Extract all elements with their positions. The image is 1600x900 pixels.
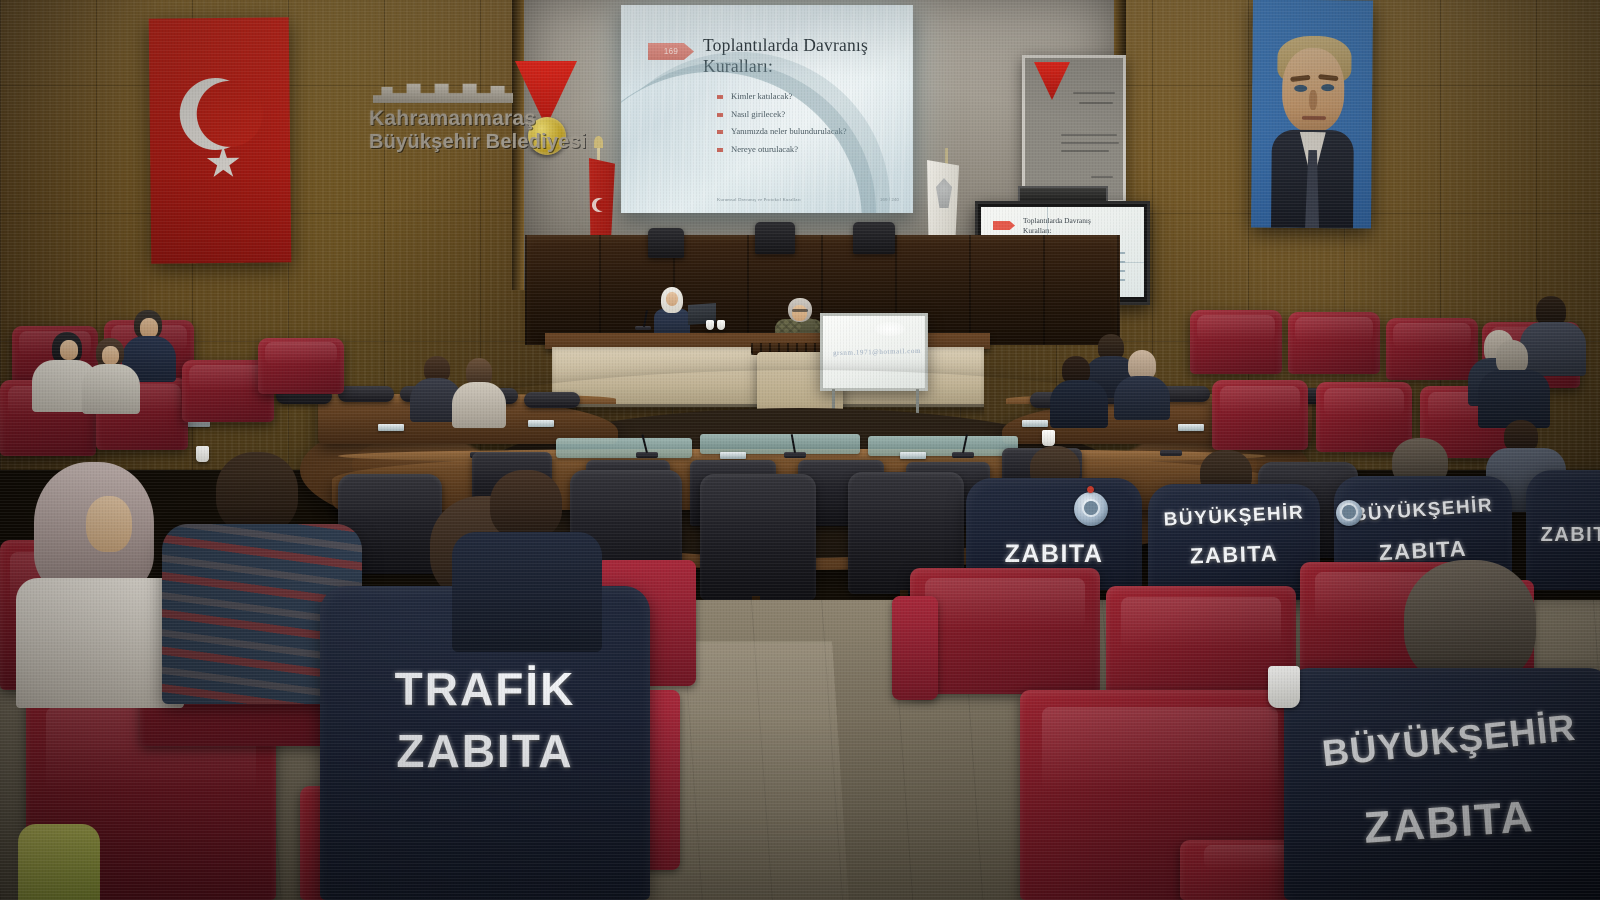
council-chamber-photo: Kahramanmaraş Büyükşehir Belediyesi 169 … [0, 0, 1600, 900]
flag-pole-finial [594, 136, 603, 148]
slide-number-badge: 169 [648, 43, 694, 60]
jacket-buyuksehir-zabita-1: BÜYÜKŞEHİR ZABITA [1148, 484, 1320, 600]
slide-title: Toplantılarda Davranış Kuralları: [703, 35, 903, 77]
slide-title-line1: Toplantılarda Davranış [703, 35, 903, 56]
municipality-logo: Kahramanmaraş Büyükşehir Belediyesi [355, 55, 580, 155]
swivel-chair [700, 474, 816, 600]
slide-bullet-list: Kimler katılacak? Nasıl girilecek? Yanım… [717, 91, 907, 161]
slide-footer: Kurumsal Davranış ve Protokol Kuralları [717, 197, 801, 202]
slide-bullet: Nereye oturulacak? [717, 144, 907, 154]
jacket-text-line2: ZABITA [320, 724, 650, 778]
hi-vis-vest-edge [18, 824, 100, 900]
monitor-slide-badge [993, 221, 1015, 230]
jacket-text-line2: ZABITA [966, 540, 1142, 569]
jacket-partial-right: ZABITA [1526, 470, 1600, 590]
jacket-text-line1: BÜYÜKŞEHİR [1283, 703, 1600, 779]
turkish-flag-banner [149, 17, 292, 263]
jacket-buyuksehir-zabita-3: BÜYÜKŞEHİR ZABITA [1284, 668, 1600, 900]
star-icon [206, 146, 240, 180]
jacket-text-line2: ZABITA [1283, 787, 1600, 860]
crown-battlement-icon [373, 77, 513, 103]
jacket-text-partial: ZABITA [1526, 524, 1600, 547]
slide-bullet: Yanımızda neler bulundurulacak? [717, 126, 907, 136]
logo-line1: Kahramanmaraş [369, 107, 536, 131]
shoulder-patch-icon [1336, 500, 1362, 526]
zabita-emblem-icon [1074, 492, 1108, 526]
jacket-text-line2: ZABITA [1148, 539, 1321, 571]
crescent-icon [179, 78, 252, 151]
ataturk-portrait [1251, 0, 1373, 229]
framed-certificate [1022, 55, 1126, 203]
slide-page-marker: 169 / 240 [880, 197, 899, 202]
certificate-medal-icon [1040, 93, 1065, 118]
whiteboard-text: grsnm.1971@hotmail.com [833, 347, 921, 357]
monitor-slide-title: Toplantılarda Davranış Kuralları: [1023, 216, 1133, 235]
slide-title-line2: Kuralları: [703, 56, 903, 77]
coffee-cup [1268, 666, 1300, 708]
presenter-glasses [792, 309, 808, 312]
jacket-text-line1: BÜYÜKŞEHİR [1148, 502, 1321, 533]
logo-line2: Büyükşehir Belediyesi [369, 131, 587, 154]
slide-bullet: Kimler katılacak? [717, 91, 907, 101]
jacket-text-line1: TRAFİK [320, 662, 650, 716]
projection-screen: 169 Toplantılarda Davranış Kuralları: Ki… [621, 5, 913, 213]
slide-bullet: Nasıl girilecek? [717, 109, 907, 119]
